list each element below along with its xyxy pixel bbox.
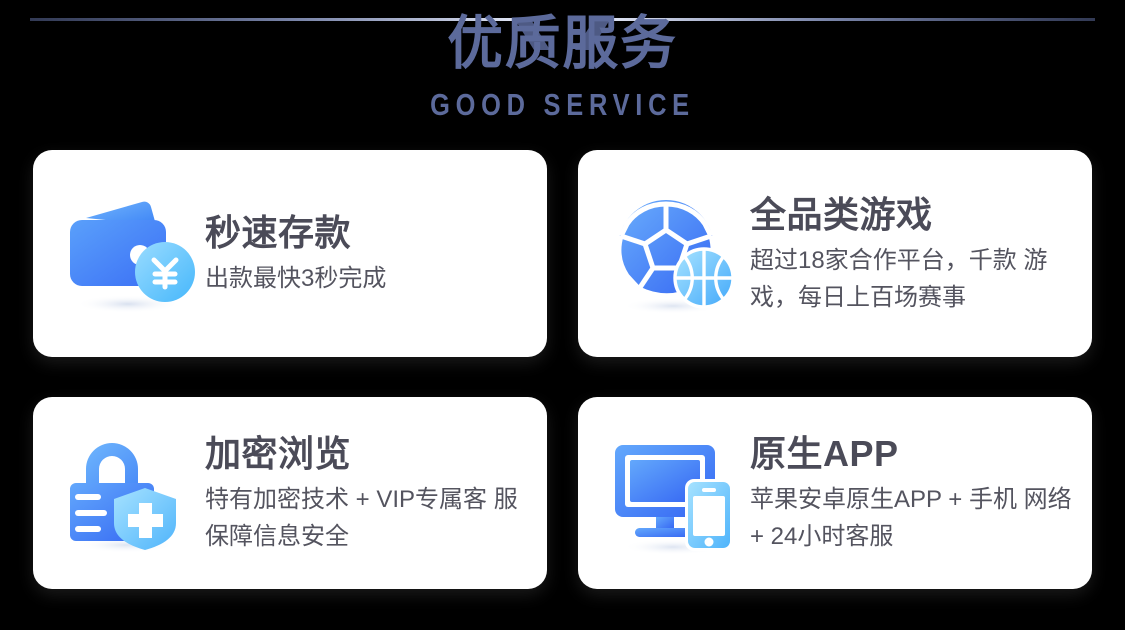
card-text-block: 原生APP 苹果安卓原生APP + 手机 网络 + 24小时客服 [750,431,1092,555]
card-title: 全品类游戏 [750,192,1082,238]
card-description: 苹果安卓原生APP + 手机 网络 + 24小时客服 [750,481,1080,555]
header-title-block: 优质服务 GOOD SERVICE [0,6,1125,122]
service-card-encryption[interactable]: 加密浏览 特有加密技术 + VIP专属客 服保障信息安全 [33,397,547,589]
card-text-block: 秒速存款 出款最快3秒完成 [205,210,547,297]
page-title: 优质服务 [23,6,1103,82]
card-title: 原生APP [750,431,1082,477]
card-description: 特有加密技术 + VIP专属客 服保障信息安全 [205,481,535,555]
page-header: 优质服务 GOOD SERVICE [0,0,1125,150]
soccer-basketball-icon [600,186,750,321]
wallet-yuan-icon [55,186,205,321]
monitor-phone-icon [600,426,750,561]
lock-shield-icon [55,426,205,561]
card-title: 秒速存款 [205,210,537,256]
card-text-block: 加密浏览 特有加密技术 + VIP专属客 服保障信息安全 [205,431,547,555]
service-card-games[interactable]: 全品类游戏 超过18家合作平台，千款 游戏，每日上百场赛事 [578,150,1092,357]
card-title: 加密浏览 [205,431,537,477]
card-text-block: 全品类游戏 超过18家合作平台，千款 游戏，每日上百场赛事 [750,192,1092,316]
service-card-grid: 秒速存款 出款最快3秒完成 [33,150,1092,590]
card-description: 出款最快3秒完成 [205,260,535,297]
service-card-native-app[interactable]: 原生APP 苹果安卓原生APP + 手机 网络 + 24小时客服 [578,397,1092,589]
card-description: 超过18家合作平台，千款 游戏，每日上百场赛事 [750,242,1080,316]
service-card-deposit[interactable]: 秒速存款 出款最快3秒完成 [33,150,547,357]
page-subtitle: GOOD SERVICE [101,88,1024,122]
